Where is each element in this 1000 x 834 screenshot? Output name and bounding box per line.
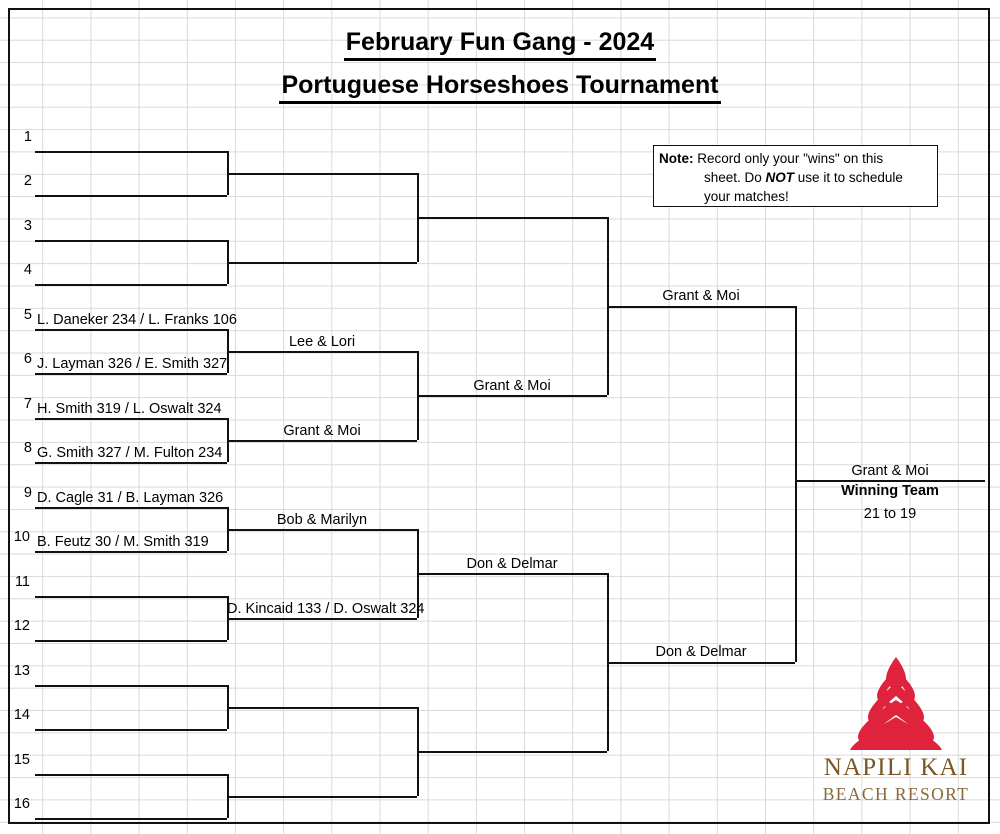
slot-r3-2[interactable]: Grant & Moi [417,379,607,394]
seed-number-4: 4 [10,263,32,277]
bracket-line-r2-3 [227,351,417,353]
bracket-line-seed-3 [35,240,227,242]
note-emphasis-not: NOT [766,170,795,185]
bracket-line-seed-10 [35,551,227,553]
slot-r2-4[interactable]: Grant & Moi [227,424,417,439]
slot-seed-10[interactable]: B. Feutz 30 / M. Smith 319 [37,535,209,550]
seed-number-11: 11 [8,575,30,589]
logo-name-line1: NAPILI KAI [806,754,986,782]
bracket-line-seed-14 [35,729,227,731]
note-line-3: your matches! [659,187,933,207]
slot-r4-2[interactable]: Don & Delmar [607,645,795,660]
bracket-line-seed-13 [35,685,227,687]
slot-r3-3[interactable]: Don & Delmar [417,557,607,572]
bracket-line-seed-11 [35,596,227,598]
bracket-line-seed-5 [35,329,227,331]
bracket-line-r2-8 [227,796,417,798]
bracket-line-seed-16 [35,818,227,820]
bracket-line-r2-6 [227,618,417,620]
seed-number-3: 3 [10,219,32,233]
logo-name-line2: BEACH RESORT [806,784,986,805]
slot-champion-name[interactable]: Grant & Moi [795,464,985,479]
slot-seed-7[interactable]: H. Smith 319 / L. Oswalt 324 [37,402,222,417]
bracket-line-seed-8 [35,462,227,464]
slot-seed-9[interactable]: D. Cagle 31 / B. Layman 326 [37,491,223,506]
seed-number-10: 10 [8,530,30,544]
seed-number-12: 12 [8,619,30,633]
bracket-line-seed-12 [35,640,227,642]
slot-seed-6[interactable]: J. Layman 326 / E. Smith 327 [37,357,227,372]
seed-number-6: 6 [10,352,32,366]
slot-r4-1[interactable]: Grant & Moi [607,289,795,304]
bracket-line-seed-7 [35,418,227,420]
bracket-line-r4-2 [607,662,795,664]
bracket-line-seed-9 [35,507,227,509]
note-line-2-a: sheet. Do [704,170,766,185]
bracket-line-r2-1 [227,173,417,175]
seed-number-1: 1 [10,130,32,144]
slot-seed-5[interactable]: L. Daneker 234 / L. Franks 106 [37,313,237,328]
bracket-line-r2-5 [227,529,417,531]
note-line-2: sheet. Do NOT use it to schedule [659,168,933,188]
seed-number-16: 16 [8,797,30,811]
seed-number-8: 8 [10,441,32,455]
bracket-line-r2-7 [227,707,417,709]
bracket-line-seed-4 [35,284,227,286]
page-title-line1: February Fun Gang - 2024 [0,28,1000,61]
seed-number-9: 9 [10,486,32,500]
seed-number-14: 14 [8,708,30,722]
bracket-line-r3-3 [417,573,607,575]
bracket-line-seed-2 [35,195,227,197]
napili-kai-leaf-icon [806,655,986,750]
note-line-2-b: use it to schedule [794,170,903,185]
slot-r2-6[interactable]: D. Kincaid 133 / D. Oswalt 324 [227,602,417,617]
slot-r2-3[interactable]: Lee & Lori [227,335,417,350]
seed-number-5: 5 [10,308,32,322]
bracket-line-r3-1 [417,217,607,219]
napili-kai-logo: NAPILI KAI BEACH RESORT [806,655,986,820]
slot-seed-8[interactable]: G. Smith 327 / M. Fulton 234 [37,446,222,461]
bracket-line-r3-4 [417,751,607,753]
champion-label: Winning Team [795,484,985,499]
bracket-line-seed-6 [35,373,227,375]
seed-number-15: 15 [8,753,30,767]
bracket-line-seed-1 [35,151,227,153]
bracket-line-seed-15 [35,774,227,776]
bracket-line-r2-2 [227,262,417,264]
page-title-line2-text: Portuguese Horseshoes Tournament [279,71,720,104]
bracket-line-champion [795,480,985,482]
page-title-line2: Portuguese Horseshoes Tournament [0,71,1000,104]
champion-score[interactable]: 21 to 19 [795,507,985,522]
note-line-1: Record only your "wins" on this [697,151,883,166]
note-label: Note: [659,151,694,166]
note-box: Note: Record only your "wins" on this sh… [653,145,938,207]
seed-number-2: 2 [10,174,32,188]
page-title-line1-text: February Fun Gang - 2024 [344,28,656,61]
spreadsheet-canvas: February Fun Gang - 2024 Portuguese Hors… [0,0,1000,834]
bracket-line-r3-2 [417,395,607,397]
seed-number-7: 7 [10,397,32,411]
seed-number-13: 13 [8,664,30,678]
slot-r2-5[interactable]: Bob & Marilyn [227,513,417,528]
bracket-line-r4-1 [607,306,795,308]
bracket-line-r2-4 [227,440,417,442]
